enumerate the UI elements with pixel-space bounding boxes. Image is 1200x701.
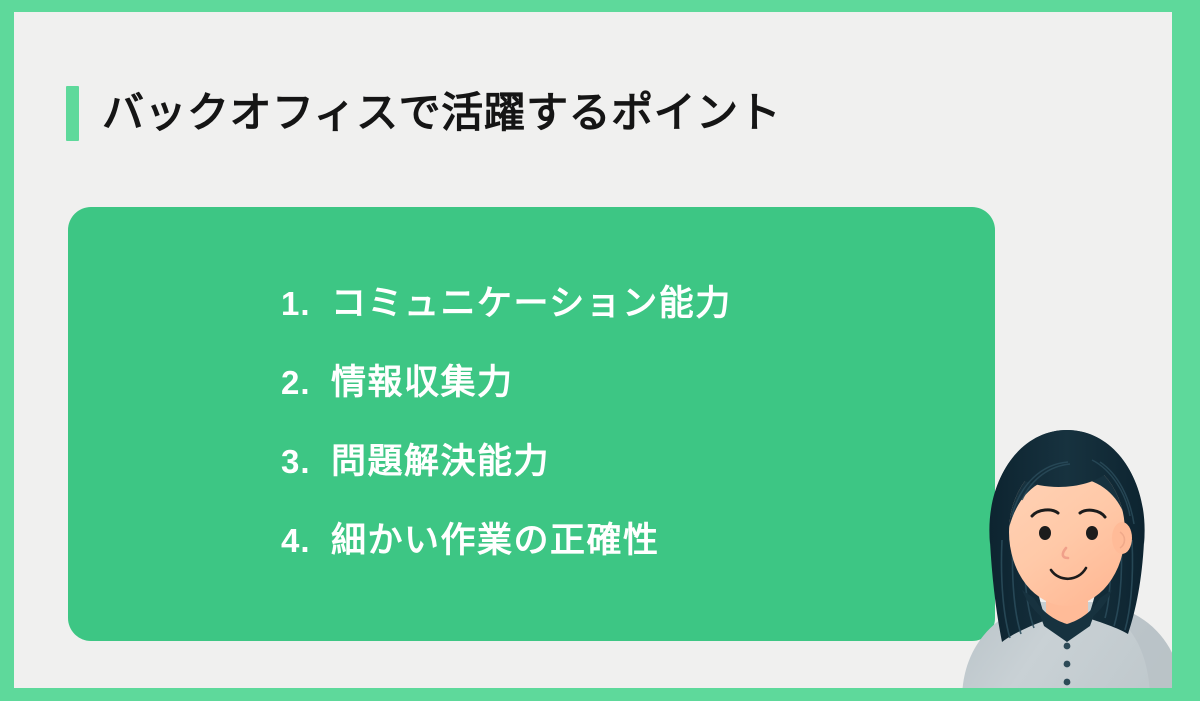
- list-item-number: 3.: [281, 443, 331, 481]
- list-item: 1. コミュニケーション能力: [281, 275, 732, 354]
- neck-shape: [1046, 570, 1088, 628]
- list-item-number: 1.: [281, 285, 331, 323]
- face-shape: [1009, 458, 1132, 606]
- points-list: 1. コミュニケーション能力 2. 情報収集力 3. 問題解決能力 4. 細かい…: [281, 275, 732, 591]
- list-item-label: 細かい作業の正確性: [331, 512, 660, 563]
- collar-shape: [1022, 590, 1112, 642]
- list-item: 3. 問題解決能力: [281, 433, 732, 512]
- facial-features: [1032, 510, 1105, 579]
- list-item: 2. 情報収集力: [281, 354, 732, 433]
- list-item-label: コミュニケーション能力: [331, 275, 732, 326]
- slide-root: バックオフィスで活躍するポイント 1. コミュニケーション能力 2. 情報収集力…: [0, 0, 1200, 701]
- title-accent-bar: [66, 86, 79, 141]
- list-item-number: 4.: [281, 522, 331, 560]
- list-item-label: 情報収集力: [331, 354, 514, 405]
- list-item-number: 2.: [281, 364, 331, 402]
- list-item: 4. 細かい作業の正確性: [281, 512, 732, 591]
- hair-front-shape: [1008, 452, 1129, 532]
- slide-panel: バックオフィスで活躍するポイント 1. コミュニケーション能力 2. 情報収集力…: [14, 12, 1172, 688]
- list-item-label: 問題解決能力: [331, 433, 550, 484]
- page-title: バックオフィスで活躍するポイント: [66, 80, 781, 146]
- points-card: 1. コミュニケーション能力 2. 情報収集力 3. 問題解決能力 4. 細かい…: [68, 207, 995, 641]
- hair-back-shape: [990, 430, 1145, 642]
- shirt-buttons: [1064, 643, 1071, 688]
- title-text: バックオフィスで活躍するポイント: [102, 92, 781, 134]
- hair-fringe-shape: [989, 430, 1144, 544]
- hair-highlight-lines: [1012, 460, 1134, 524]
